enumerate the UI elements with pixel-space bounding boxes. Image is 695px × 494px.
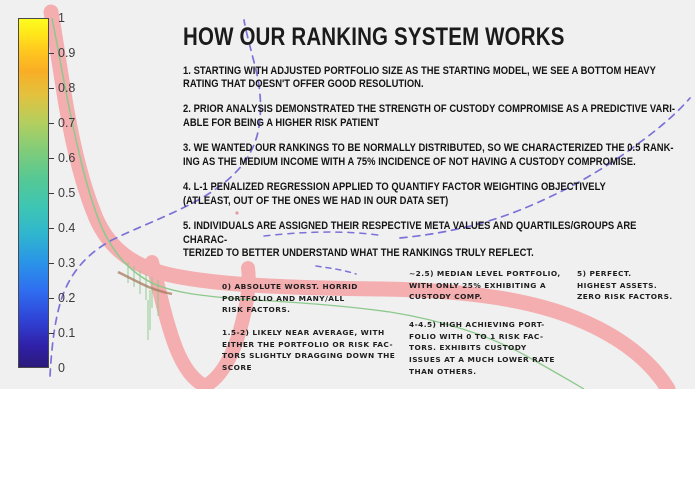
colorbar-tick-0.6	[49, 158, 54, 159]
callout-group-0: 0) ABSOLUTE WORST. HORRID PORTFOLIO AND …	[222, 281, 397, 316]
callout-group-5: 5) PERFECT. HIGHEST ASSETS. ZERO RISK FA…	[577, 268, 692, 303]
colorbar-tick-0.1	[49, 333, 54, 334]
content-column: HOW OUR RANKING SYSTEM WORKS 1. STARTING…	[183, 24, 683, 272]
paragraph-1-line-1: 1. STARTING WITH ADJUSTED PORTFOLIO SIZE…	[183, 65, 683, 79]
green-vertical-hairs	[128, 262, 158, 340]
paragraph-2-line-2: ABLE FOR BEING A HIGHER RISK PATIENT	[183, 117, 683, 131]
colorbar-tick-0.2	[49, 298, 54, 299]
colorbar-tick-0.5	[49, 193, 54, 194]
paragraph-3-line-1: 3. WE WANTED OUR RANKINGS TO BE NORMALLY…	[183, 142, 683, 156]
colorbar-tick-0.3	[49, 263, 54, 264]
pink-band-lower-sweep	[152, 262, 205, 386]
colorbar-gradient	[18, 18, 49, 368]
paragraph-4-line-2: (ATLEAST, OUT OF THE ONES WE HAD IN OUR …	[183, 195, 683, 209]
paragraph-1-line-2: RATING THAT DOESN'T OFFER GOOD RESOLUTIO…	[183, 78, 683, 92]
brown-overlap-segment	[118, 272, 172, 294]
ranking-colorbar: 10.90.80.70.60.50.40.30.20.10	[18, 18, 88, 370]
colorbar-label-0.3: 0.3	[58, 257, 75, 270]
colorbar-label-0: 0	[58, 362, 65, 375]
colorbar-tick-0.9	[49, 53, 54, 54]
colorbar-tick-0.7	[49, 123, 54, 124]
page-title: HOW OUR RANKING SYSTEM WORKS	[183, 24, 593, 52]
paragraph-3: 3. WE WANTED OUR RANKINGS TO BE NORMALLY…	[183, 142, 683, 170]
paragraph-5-line-1: 5. INDIVIDUALS ARE ASSIGNED THEIR RESPEC…	[183, 220, 683, 248]
colorbar-label-0.8: 0.8	[58, 82, 75, 95]
paragraph-3-line-2: ING AS THE MEDIUM INCOME WITH A 75% INCI…	[183, 156, 683, 170]
colorbar-label-1: 1	[58, 12, 65, 25]
colorbar-tick-0.8	[49, 88, 54, 89]
paragraph-2: 2. PRIOR ANALYSIS DEMONSTRATED THE STREN…	[183, 103, 683, 131]
paragraph-5: 5. INDIVIDUALS ARE ASSIGNED THEIR RESPEC…	[183, 220, 683, 262]
callout-group-2-5: ~2.5) MEDIAN LEVEL PORTFOLIO, WITH ONLY …	[409, 268, 577, 303]
colorbar-label-0.2: 0.2	[58, 292, 75, 305]
colorbar-label-0.4: 0.4	[58, 222, 75, 235]
colorbar-label-0.6: 0.6	[58, 152, 75, 165]
callout-group-4-4-5: 4-4.5) HIGH ACHIEVING PORT- FOLIO WITH 0…	[409, 319, 577, 377]
paragraph-4-line-1: 4. L-1 PENALIZED REGRESSION APPLIED TO Q…	[183, 181, 683, 195]
paragraph-2-line-1: 2. PRIOR ANALYSIS DEMONSTRATED THE STREN…	[183, 103, 683, 117]
colorbar-tick-0.4	[49, 228, 54, 229]
paragraph-1: 1. STARTING WITH ADJUSTED PORTFOLIO SIZE…	[183, 65, 683, 93]
colorbar-label-0.1: 0.1	[58, 327, 75, 340]
callout-group-1-5-2: 1.5-2) LIKELY NEAR AVERAGE, WITH EITHER …	[222, 327, 404, 374]
colorbar-label-0.7: 0.7	[58, 117, 75, 130]
colorbar-label-0.9: 0.9	[58, 47, 75, 60]
paragraph-5-line-2: TERIZED TO BETTER UNDERSTAND WHAT THE RA…	[183, 247, 683, 261]
colorbar-label-0.5: 0.5	[58, 187, 75, 200]
paragraph-4: 4. L-1 PENALIZED REGRESSION APPLIED TO Q…	[183, 181, 683, 209]
figure-panel: 10.90.80.70.60.50.40.30.20.10 HOW OUR RA…	[0, 0, 695, 389]
